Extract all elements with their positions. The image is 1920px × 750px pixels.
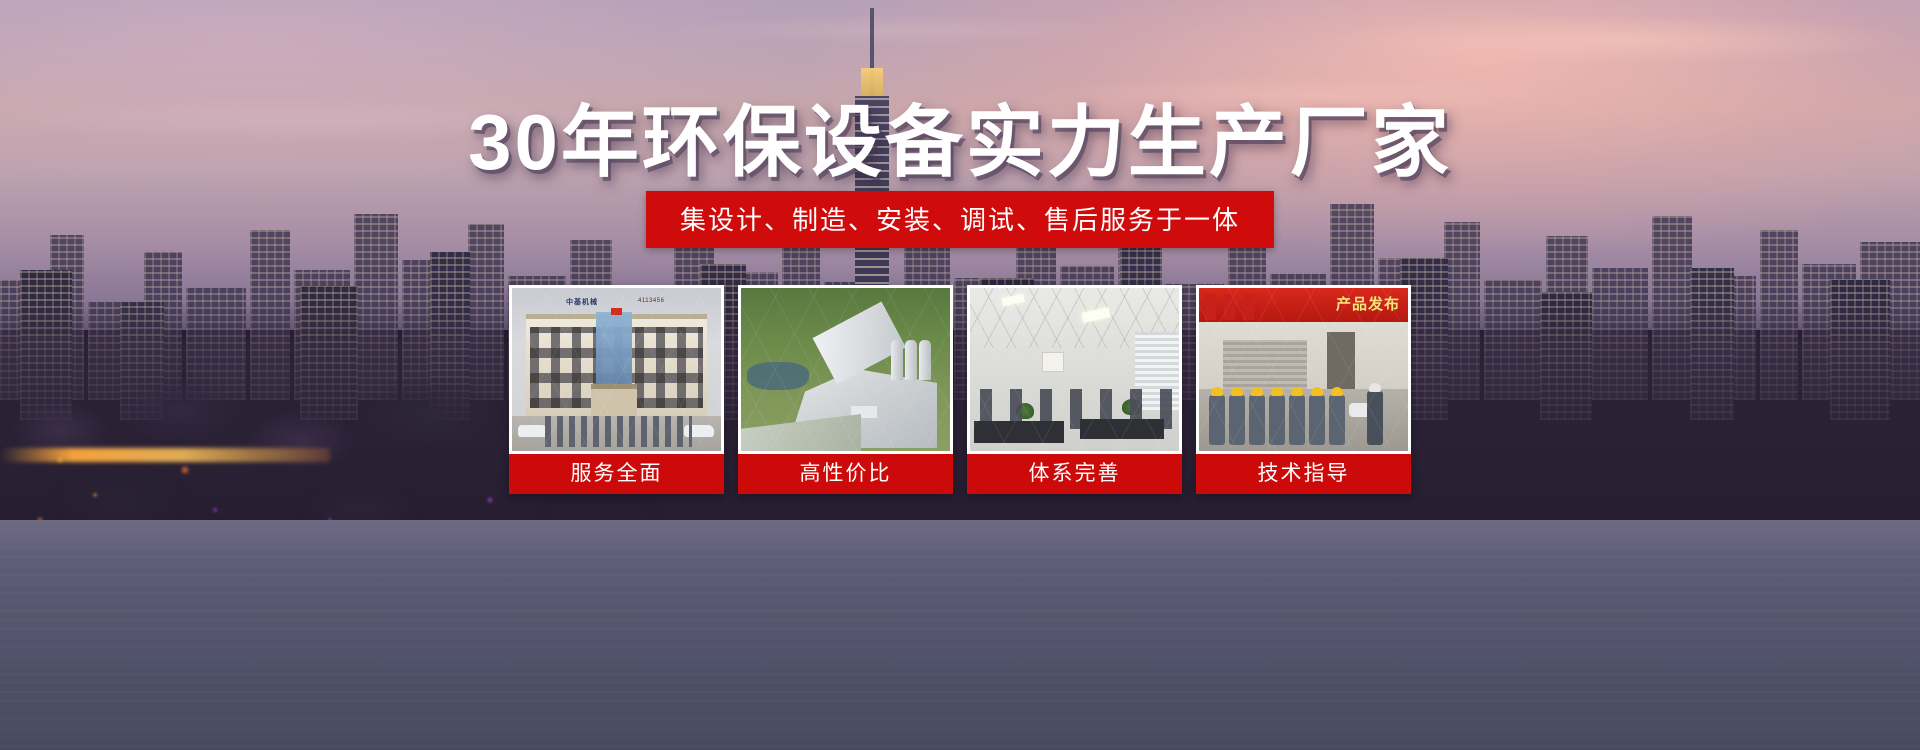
- feature-card[interactable]: 产品发布 技术指导: [1196, 285, 1411, 494]
- lit-bridge: [0, 448, 330, 462]
- building-phone-number: 4113456: [638, 298, 664, 304]
- hero-banner: 30年环保设备实力生产厂家 集设计、制造、安装、调试、售后服务于一体 中基机械 …: [0, 0, 1920, 750]
- office-interior-team-photo: [970, 288, 1179, 451]
- banner-subtitle-bar: 集设计、制造、安装、调试、售后服务于一体: [646, 191, 1274, 248]
- feature-card-label: 服务全面: [509, 454, 724, 494]
- factory-workshop-workers-photo: 产品发布: [1199, 288, 1408, 451]
- banner-headline: 30年环保设备实力生产厂家: [0, 103, 1920, 181]
- feature-card-label: 体系完善: [967, 454, 1182, 494]
- water-reflection: [0, 520, 1920, 750]
- workshop-banner-text: 产品发布: [1336, 293, 1400, 314]
- feature-card[interactable]: 中基机械 4113456 服务全面: [509, 285, 724, 494]
- feature-card-label: 技术指导: [1196, 454, 1411, 494]
- feature-card-label: 高性价比: [738, 454, 953, 494]
- feature-card-row: 中基机械 4113456 服务全面 高性价比: [509, 285, 1411, 494]
- building-signage: 中基机械: [566, 297, 598, 307]
- feature-card[interactable]: 体系完善: [967, 285, 1182, 494]
- aerial-industrial-plant-photo: [741, 288, 950, 451]
- corporate-headquarters-building-photo: 中基机械 4113456: [512, 288, 721, 451]
- feature-card[interactable]: 高性价比: [738, 285, 953, 494]
